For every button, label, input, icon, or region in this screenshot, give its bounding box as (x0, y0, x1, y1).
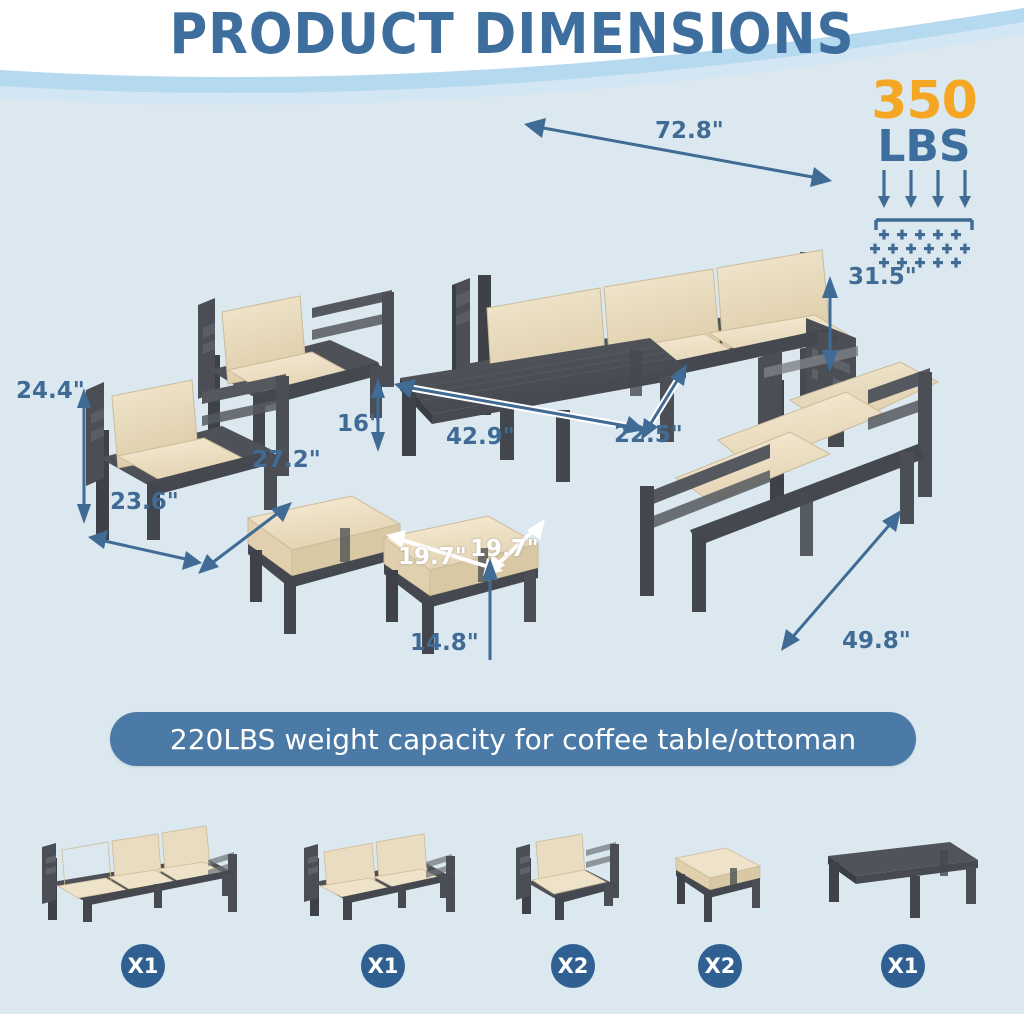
dimension-label-table-depth: 22.5" (614, 422, 683, 448)
dimension-label-ottoman-width: 19.7" (398, 544, 467, 570)
loveseat-thumbnail (288, 810, 478, 930)
weight-capacity-banner: 220LBS weight capacity for coffee table/… (110, 712, 916, 766)
qty-badge-sofa: X1 (121, 944, 165, 988)
dimension-label-sofa-height: 31.5" (848, 264, 917, 290)
strip-item-armchair: X2 (498, 810, 648, 988)
page-title: PRODUCT DIMENSIONS (41, 2, 983, 67)
dimension-label-ottoman-depth: 19.7" (470, 536, 539, 562)
dimension-label-chair-width: 23.6" (110, 489, 179, 515)
strip-item-ottoman: X2 (650, 810, 790, 988)
qty-badge-coffee-table: X1 (881, 944, 925, 988)
sofa-thumbnail (28, 810, 258, 930)
strip-item-coffee-table: X1 (808, 810, 998, 988)
strip-item-loveseat: X1 (288, 810, 478, 988)
qty-badge-ottoman: X2 (698, 944, 742, 988)
qty-badge-armchair: X2 (551, 944, 595, 988)
dimension-label-table-height: 16" (337, 411, 381, 437)
furniture-layout-illustration (0, 100, 1024, 700)
dimension-label-chair-depth: 27.2" (252, 447, 321, 473)
coffee-table-thumbnail (808, 810, 998, 930)
loveseat-illustration (640, 346, 938, 612)
qty-badge-loveseat: X1 (361, 944, 405, 988)
item-quantity-strip: X1 (0, 800, 1024, 1015)
dimension-label-table-length: 42.9" (446, 424, 515, 450)
banner-text: 220LBS weight capacity for coffee table/… (170, 723, 856, 756)
ottoman-thumbnail (650, 810, 790, 930)
dimension-label-ottoman-height: 14.8" (410, 630, 479, 656)
dimension-label-sofa-width: 72.8" (655, 118, 724, 144)
dimension-label-chair-height: 24.4" (16, 378, 85, 404)
bottom-white-strip (0, 1014, 1024, 1024)
dimension-label-loveseat-width: 49.8" (842, 628, 911, 654)
strip-item-sofa: X1 (28, 810, 258, 988)
infographic-canvas: PRODUCT DIMENSIONS 350 LBS (0, 0, 1024, 1024)
armchair-thumbnail (498, 810, 648, 930)
